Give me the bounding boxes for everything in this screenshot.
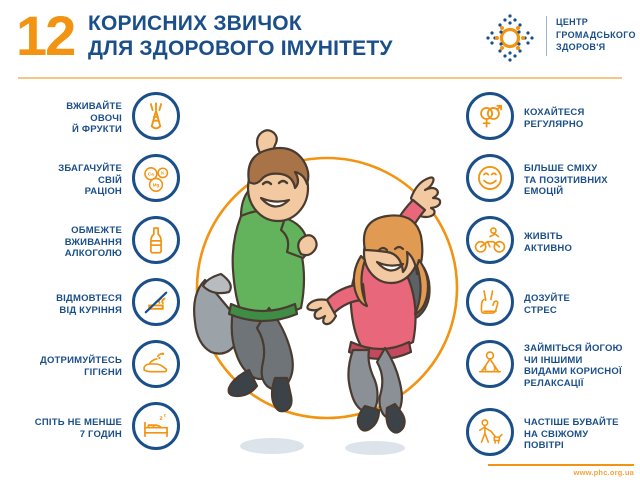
svg-text:K: K <box>161 171 165 176</box>
right-tips-column: КОХАЙТЕСЯРЕГУЛЯРНО БІЛЬШЕ СМІХУТА ПОЗИТИ… <box>460 92 636 470</box>
tip-item-alcohol[interactable]: ОБМЕЖТЕВЖИВАННЯАЛКОГОЛЮ <box>8 216 188 278</box>
footer-url[interactable]: www.phc.org.ua <box>488 468 634 477</box>
page-title: КОРИСНИХ ЗВИЧОК ДЛЯ ЗДОРОВОГО ІМУНІТЕТУ <box>88 11 478 61</box>
svg-text:Ca: Ca <box>148 171 154 176</box>
tip-label: ДОТРИМУЙТЕСЬГІГІЄНИ <box>12 355 122 378</box>
washing-hands-icon <box>132 340 180 388</box>
tip-item-laughter[interactable]: БІЛЬШЕ СМІХУТА ПОЗИТИВНИХЕМОЦІЙ <box>460 154 636 216</box>
tip-item-fresh-air[interactable]: ЧАСТІШЕ БУВАЙТЕНА СВІЖОМУПОВІТРІ <box>460 408 636 470</box>
logo-text: ЦЕНТР ГРОМАДСЬКОГО ЗДОРОВ'Я <box>556 16 636 54</box>
logo-divider <box>546 16 547 56</box>
tip-label: ЗАЙМІТЬСЯ ЙОГОЮЧИ ІНШИМИВИДАМИ КОРИСНОЇР… <box>524 343 636 389</box>
footer-divider <box>488 464 634 466</box>
tip-item-smoking[interactable]: ВІДМОВТЕСЯВІД КУРІННЯ <box>8 278 188 340</box>
tip-label: ЧАСТІШЕ БУВАЙТЕНА СВІЖОМУПОВІТРІ <box>524 417 636 452</box>
title-line-2: ДЛЯ ЗДОРОВОГО ІМУНІТЕТУ <box>88 36 478 61</box>
tip-item-stress[interactable]: ДОЗУЙТЕСТРЕС <box>460 278 636 340</box>
minerals-icon: CaKMg <box>132 154 180 202</box>
title-line-1: КОРИСНИХ ЗВИЧОК <box>88 12 302 35</box>
carrot-icon <box>132 92 180 140</box>
dotted-circle-logo-icon <box>484 12 536 64</box>
tip-item-minerals[interactable]: ЗБАГАЧУЙТЕСВІЙРАЦІОН CaKMg <box>8 154 188 216</box>
no-smoking-icon <box>132 278 180 326</box>
tip-label: КОХАЙТЕСЯРЕГУЛЯРНО <box>524 107 636 130</box>
logo-line-1: ЦЕНТР <box>556 16 636 29</box>
bottle-icon <box>132 216 180 264</box>
tip-label: ВЖИВАЙТЕОВОЧІЙ ФРУКТИ <box>12 101 122 136</box>
left-tips-column: ВЖИВАЙТЕОВОЧІЙ ФРУКТИ ЗБАГАЧУЙТЕСВІЙРАЦІ… <box>8 92 188 464</box>
tip-label: ВІДМОВТЕСЯВІД КУРІННЯ <box>12 293 122 316</box>
svg-text:Mg: Mg <box>153 183 160 188</box>
central-illustration <box>175 78 475 463</box>
logo-line-2: ГРОМАДСЬКОГО <box>556 29 636 42</box>
tip-label: ЗБАГАЧУЙТЕСВІЙРАЦІОН <box>12 163 122 198</box>
tip-label: ДОЗУЙТЕСТРЕС <box>524 293 636 316</box>
tip-label: ЖИВІТЬАКТИВНО <box>524 231 636 254</box>
svg-text:z: z <box>164 413 167 418</box>
tip-item-yoga[interactable]: ЗАЙМІТЬСЯ ЙОГОЮЧИ ІНШИМИВИДАМИ КОРИСНОЇР… <box>460 340 636 408</box>
tip-item-hygiene[interactable]: ДОТРИМУЙТЕСЬГІГІЄНИ <box>8 340 188 402</box>
tip-item-vegetables[interactable]: ВЖИВАЙТЕОВОЧІЙ ФРУКТИ <box>8 92 188 154</box>
headline-number: 12 <box>16 8 74 64</box>
logo-line-3: ЗДОРОВ'Я <box>556 41 636 54</box>
tip-item-active[interactable]: ЖИВІТЬАКТИВНО <box>460 216 636 278</box>
tip-label: ОБМЕЖТЕВЖИВАННЯАЛКОГОЛЮ <box>12 225 122 260</box>
svg-text:z: z <box>159 415 163 422</box>
tip-label: СПІТЬ НЕ МЕНШЕ7 ГОДИН <box>12 417 122 440</box>
tip-item-intimacy[interactable]: КОХАЙТЕСЯРЕГУЛЯРНО <box>460 92 636 154</box>
organization-logo: ЦЕНТР ГРОМАДСЬКОГО ЗДОРОВ'Я <box>484 8 634 64</box>
bed-sleep-icon: z z <box>132 402 180 450</box>
tip-label: БІЛЬШЕ СМІХУТА ПОЗИТИВНИХЕМОЦІЙ <box>524 163 636 198</box>
infographic-page: 12 КОРИСНИХ ЗВИЧОК ДЛЯ ЗДОРОВОГО ІМУНІТЕ… <box>0 0 640 480</box>
tip-item-sleep[interactable]: СПІТЬ НЕ МЕНШЕ7 ГОДИН z z <box>8 402 188 464</box>
